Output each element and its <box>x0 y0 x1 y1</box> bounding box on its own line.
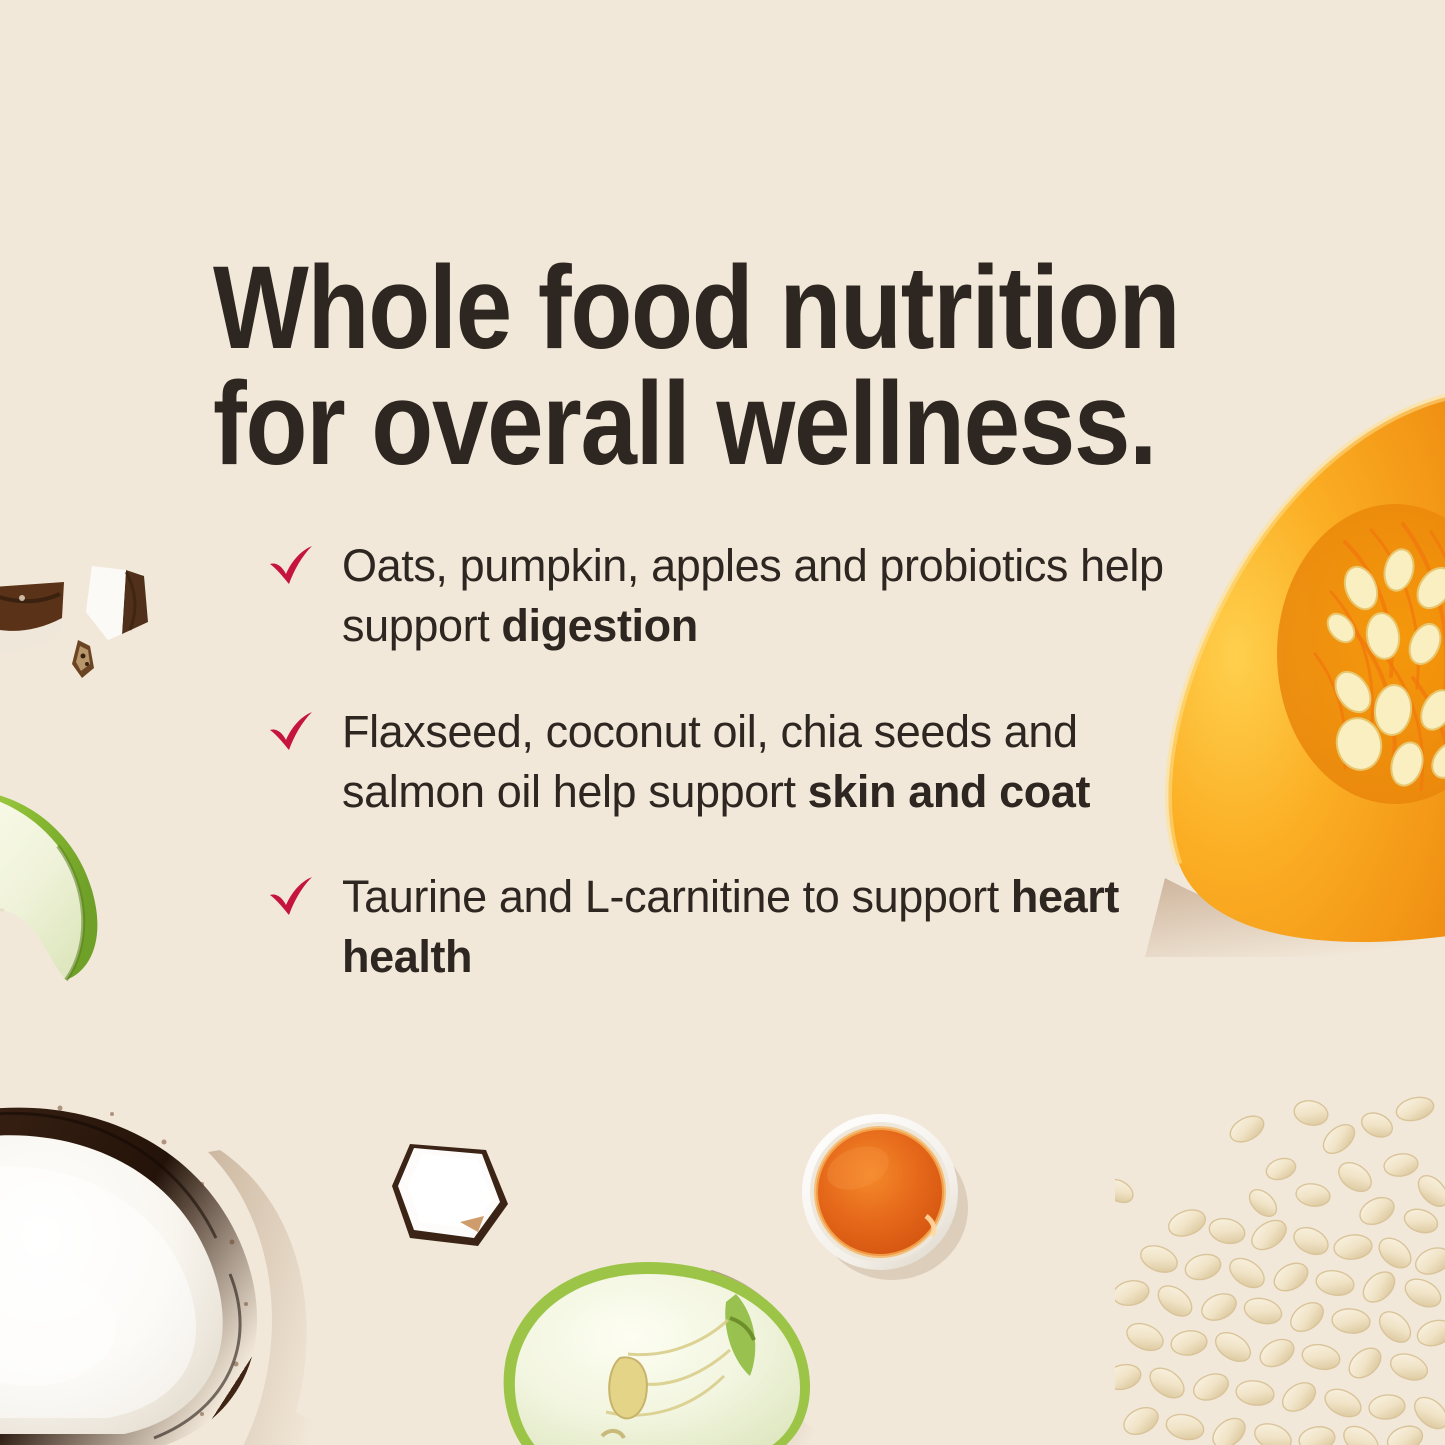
list-item: Oats, pumpkin, apples and probiotics hel… <box>266 536 1196 656</box>
coconut-chunk-image <box>78 560 156 648</box>
list-item: Taurine and L-carnitine to support heart… <box>266 867 1196 987</box>
oats-image <box>1115 1095 1445 1445</box>
coconut-flake-image <box>382 1128 528 1256</box>
headline-line-1: Whole food nutrition <box>213 251 1125 367</box>
coconut-half-image <box>0 1092 340 1445</box>
coconut-chunk-image <box>0 578 71 668</box>
list-item-label: Taurine and L-carnitine to support heart… <box>342 867 1196 987</box>
promo-image: Whole food nutrition for overall wellnes… <box>0 0 1445 1445</box>
check-icon <box>266 875 314 919</box>
page-title: Whole food nutrition for overall wellnes… <box>213 251 1125 482</box>
list-item: Flaxseed, coconut oil, chia seeds and sa… <box>266 702 1196 822</box>
benefit-list: Oats, pumpkin, apples and probiotics hel… <box>266 536 1196 987</box>
list-item-label: Flaxseed, coconut oil, chia seeds and sa… <box>342 702 1196 822</box>
coconut-chunk-image <box>68 638 98 680</box>
list-item-label: Oats, pumpkin, apples and probiotics hel… <box>342 536 1196 656</box>
oil-bowl-image <box>800 1112 968 1282</box>
check-icon <box>266 710 314 754</box>
apple-half-image <box>498 1258 828 1445</box>
headline-line-2: for overall wellness. <box>213 367 1125 483</box>
apple-slice-image <box>0 768 132 983</box>
check-icon <box>266 544 314 588</box>
